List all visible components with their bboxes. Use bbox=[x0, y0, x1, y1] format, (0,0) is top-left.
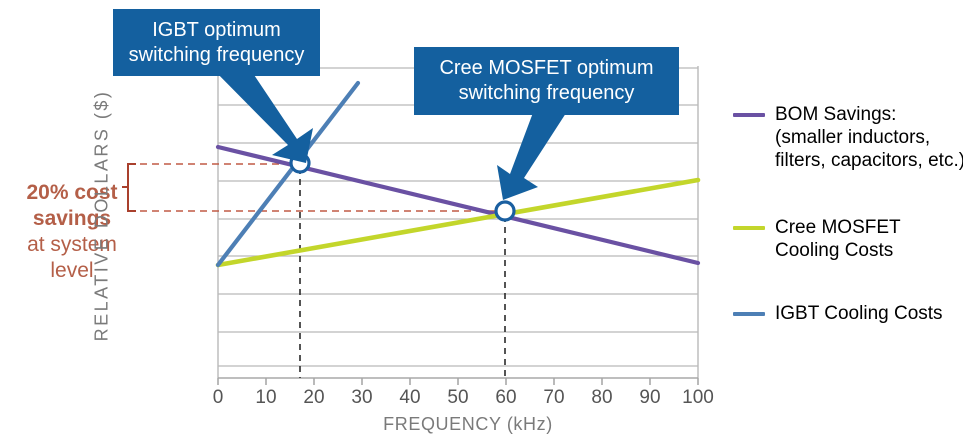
callout-igbt-line-2: switching frequency bbox=[129, 43, 305, 68]
x-tick-label-70: 70 bbox=[534, 387, 574, 409]
legend-bom-line-1: BOM Savings: bbox=[775, 103, 963, 126]
legend-item-igbt-cooling[interactable]: IGBT Cooling Costs bbox=[733, 302, 961, 325]
callout-igbt-optimum[interactable]: IGBT optimum switching frequency bbox=[113, 9, 320, 76]
legend-bom-line-3: filters, capacitors, etc.) bbox=[775, 149, 963, 172]
savings-line-4: level bbox=[2, 258, 142, 284]
legend-bom-line-2: (smaller inductors, bbox=[775, 126, 963, 149]
x-tick-label-30: 30 bbox=[342, 387, 382, 409]
legend-cree-line-2: Cooling Costs bbox=[775, 239, 901, 262]
legend-swatch-cree-icon bbox=[733, 226, 765, 230]
marker-cree-optimum bbox=[496, 202, 514, 220]
savings-annotation: 20% cost savings at system level bbox=[2, 180, 142, 284]
y-axis-title: RELATIVE DOLLARS ($) bbox=[92, 66, 113, 366]
callout-cree-line-1: Cree MOSFET optimum bbox=[439, 56, 653, 81]
legend-item-bom-savings[interactable]: BOM Savings: (smaller inductors, filters… bbox=[733, 103, 961, 172]
legend-swatch-igbt-icon bbox=[733, 312, 765, 316]
x-tick-label-100: 100 bbox=[678, 387, 718, 409]
x-axis bbox=[218, 378, 698, 385]
x-tick-label-10: 10 bbox=[246, 387, 286, 409]
chart-root: IGBT optimum switching frequency Cree MO… bbox=[0, 0, 963, 443]
legend-label-igbt-cooling: IGBT Cooling Costs bbox=[775, 302, 943, 325]
x-tick-label-50: 50 bbox=[438, 387, 478, 409]
series-cree-cooling-line bbox=[218, 180, 698, 265]
legend-item-cree-cooling[interactable]: Cree MOSFET Cooling Costs bbox=[733, 216, 961, 262]
x-tick-label-40: 40 bbox=[390, 387, 430, 409]
x-tick-label-0: 0 bbox=[198, 387, 238, 409]
legend-igbt-line-1: IGBT Cooling Costs bbox=[775, 302, 943, 325]
legend-cree-line-1: Cree MOSFET bbox=[775, 216, 901, 239]
x-tick-label-20: 20 bbox=[294, 387, 334, 409]
legend-swatch-bom-icon bbox=[733, 113, 765, 117]
legend-label-bom-savings: BOM Savings: (smaller inductors, filters… bbox=[775, 103, 963, 172]
x-tick-label-80: 80 bbox=[582, 387, 622, 409]
savings-line-3: at system bbox=[2, 232, 142, 258]
savings-line-2: savings bbox=[2, 206, 142, 232]
chart-legend: BOM Savings: (smaller inductors, filters… bbox=[733, 103, 961, 359]
x-tick-label-90: 90 bbox=[630, 387, 670, 409]
x-axis-title: FREQUENCY (kHz) bbox=[318, 414, 618, 435]
callout-igbt-line-1: IGBT optimum bbox=[152, 18, 281, 43]
arrow-cree bbox=[497, 110, 568, 200]
x-tick-label-60: 60 bbox=[486, 387, 526, 409]
marker-droplines bbox=[300, 168, 505, 378]
legend-label-cree-cooling: Cree MOSFET Cooling Costs bbox=[775, 216, 901, 262]
savings-line-1: 20% cost bbox=[2, 180, 142, 206]
callout-cree-line-2: switching frequency bbox=[459, 81, 635, 106]
callout-cree-optimum[interactable]: Cree MOSFET optimum switching frequency bbox=[414, 47, 679, 115]
